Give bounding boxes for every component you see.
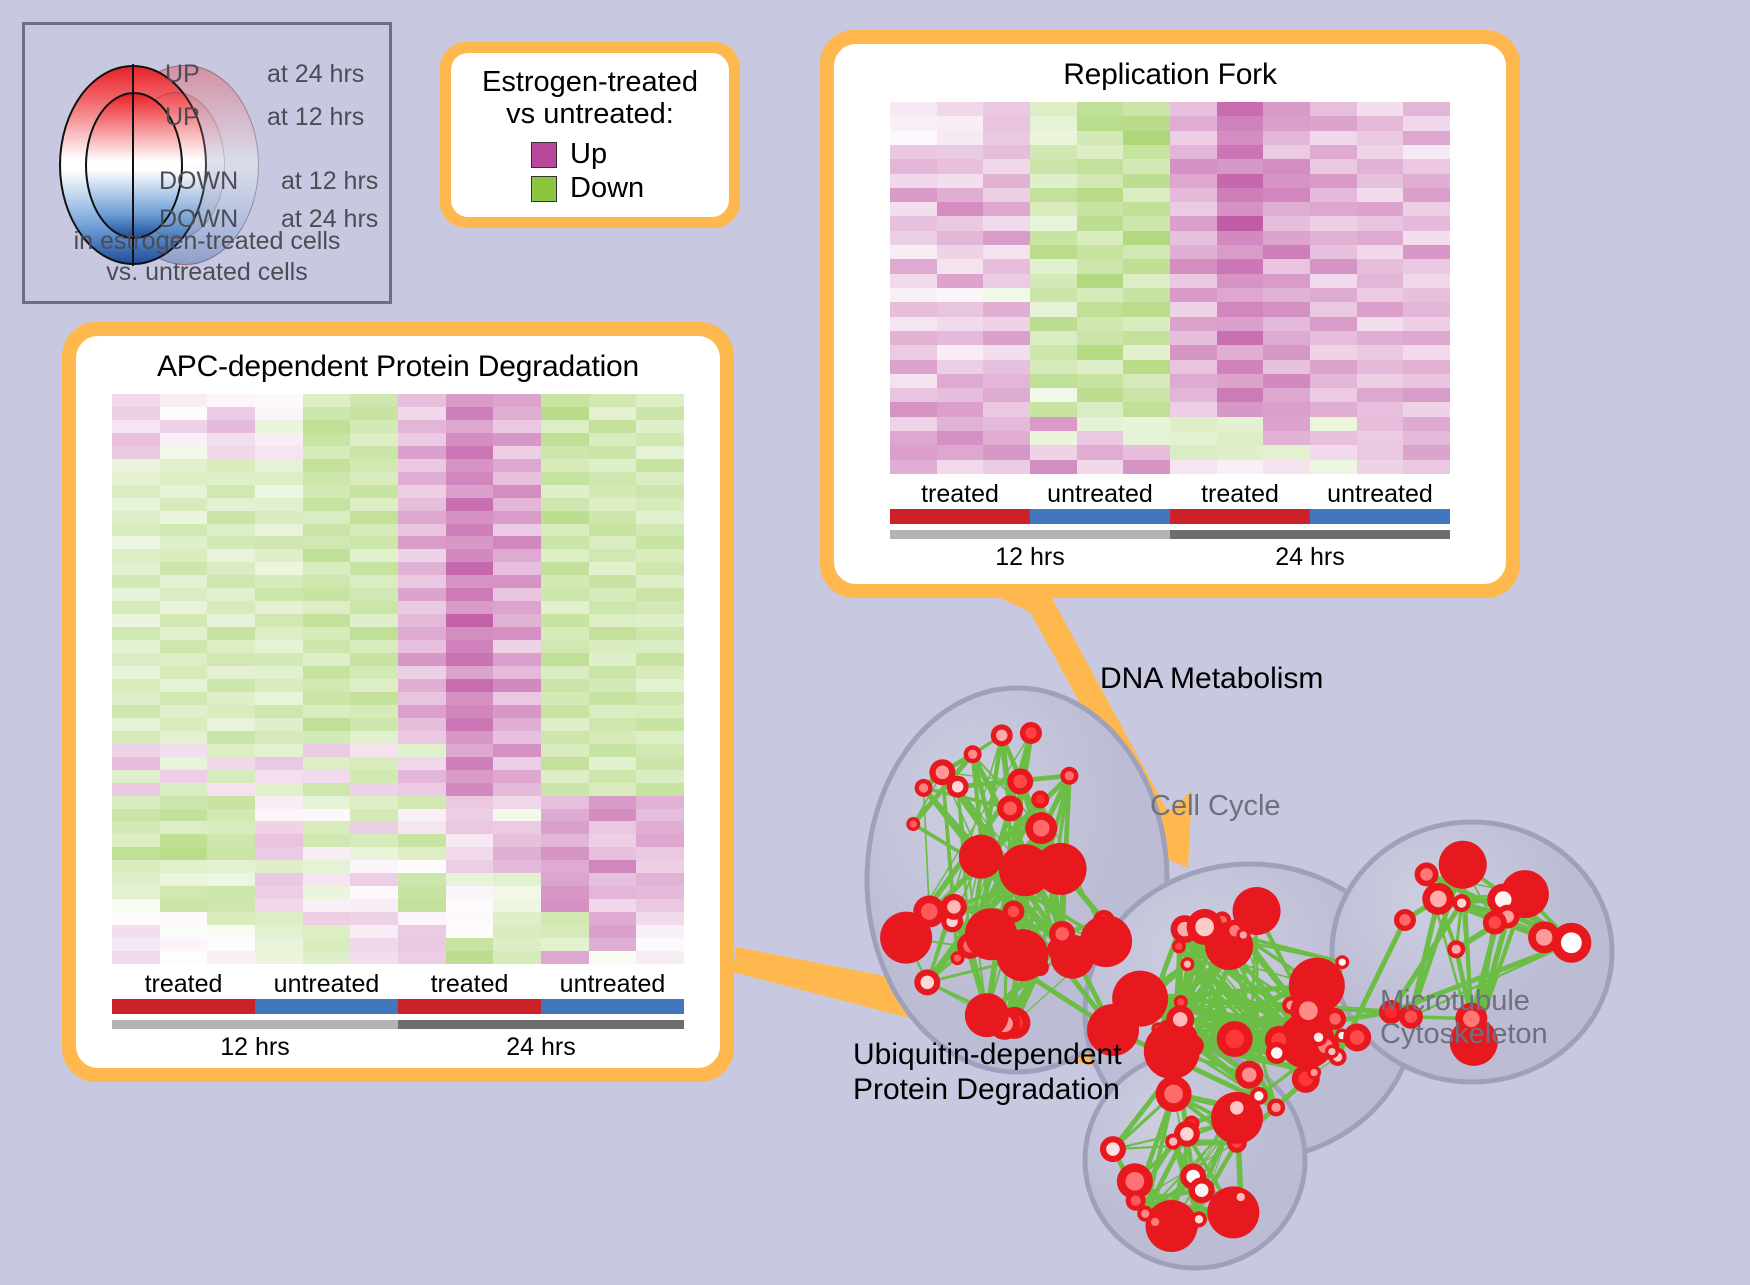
heatmap-cell xyxy=(255,834,303,847)
heatmap-cell xyxy=(1357,131,1404,145)
network-node[interactable] xyxy=(1049,921,1075,947)
heatmap-cell xyxy=(983,302,1030,316)
heatmap-cell xyxy=(350,731,398,744)
heatmap-cell xyxy=(1403,274,1450,288)
heatmap-cell xyxy=(636,679,684,692)
heatmap-cell xyxy=(541,770,589,783)
heatmap-cell xyxy=(589,433,637,446)
heatmap-cell xyxy=(589,925,637,938)
network-node[interactable] xyxy=(959,835,1003,879)
heatmap-cell xyxy=(112,640,160,653)
heatmap-cell xyxy=(589,498,637,511)
node-inner-fill xyxy=(1164,1085,1183,1104)
heatmap-cell xyxy=(303,524,351,537)
heatmap-cell xyxy=(350,536,398,549)
network-node[interactable] xyxy=(1290,993,1326,1029)
heatmap-cell xyxy=(303,459,351,472)
network-node[interactable] xyxy=(1007,768,1033,794)
network-node[interactable] xyxy=(1343,1023,1371,1051)
heatmap-cell xyxy=(983,288,1030,302)
node-inner-fill xyxy=(1237,1193,1245,1201)
heatmap-cell xyxy=(1077,145,1124,159)
heatmap-cell xyxy=(350,485,398,498)
heatmap-cell xyxy=(160,744,208,757)
node-inner-fill xyxy=(1195,1183,1209,1197)
heatmap-cell xyxy=(350,679,398,692)
heatmap-cell xyxy=(303,640,351,653)
network-node[interactable] xyxy=(906,817,920,831)
heatmap-cell xyxy=(890,188,937,202)
heatmap-cell xyxy=(1217,460,1264,474)
heatmap-cell xyxy=(160,757,208,770)
network-node[interactable] xyxy=(915,779,933,797)
network-node[interactable] xyxy=(1180,957,1194,971)
estrogen-legend-items: Up Down xyxy=(451,138,729,206)
heatmap-cell xyxy=(1030,417,1077,431)
heatmap-cell xyxy=(446,536,494,549)
network-node[interactable] xyxy=(1126,1191,1146,1211)
heatmap-cell xyxy=(446,511,494,524)
heatmap-cell xyxy=(398,705,446,718)
heatmap-cell xyxy=(493,562,541,575)
node-inner-fill xyxy=(1225,1030,1244,1049)
heatmap-cell xyxy=(589,809,637,822)
heatmap-cell xyxy=(207,536,255,549)
heatmap-cell xyxy=(937,188,984,202)
heatmap-cell xyxy=(589,666,637,679)
heatmap-cell xyxy=(255,705,303,718)
network-node[interactable] xyxy=(1060,767,1078,785)
heatmap-cell xyxy=(1263,174,1310,188)
network-node[interactable] xyxy=(1233,1189,1249,1205)
heatmap-cell xyxy=(937,174,984,188)
heatmap-cell xyxy=(541,912,589,925)
network-node[interactable] xyxy=(1025,812,1057,844)
heatmap-cell xyxy=(207,860,255,873)
heatmap-cell xyxy=(207,498,255,511)
network-node[interactable] xyxy=(1233,887,1281,935)
heatmap-cell xyxy=(255,783,303,796)
cluster-label-microtubule: Microtubule Cytoskeleton xyxy=(1380,985,1548,1052)
heatmap-cell xyxy=(446,757,494,770)
network-node[interactable] xyxy=(880,912,932,964)
heatmap-cell xyxy=(303,485,351,498)
ubiquitin-label-line1: Ubiquitin-dependent xyxy=(853,1038,1122,1073)
heatmap-cell xyxy=(207,653,255,666)
heatmap-cell xyxy=(160,899,208,912)
heatmap-cell xyxy=(1077,174,1124,188)
heatmap-cell xyxy=(1357,360,1404,374)
heatmap-cell xyxy=(493,951,541,964)
heatmap-cell xyxy=(398,847,446,860)
heatmap-cell xyxy=(1263,374,1310,388)
heatmap-cell xyxy=(160,498,208,511)
node-inner-fill xyxy=(1430,891,1447,908)
sample-group-label: treated xyxy=(398,970,541,999)
heatmap-cell xyxy=(303,847,351,860)
sample-group-label: untreated xyxy=(541,970,684,999)
heatmap-cell xyxy=(446,394,494,407)
heatmap-cell xyxy=(937,302,984,316)
node-inner-fill xyxy=(910,820,917,827)
network-node[interactable] xyxy=(964,745,982,763)
replication-fork-panel: Replication Fork treateduntreatedtreated… xyxy=(820,30,1520,598)
heatmap-cell xyxy=(255,821,303,834)
heatmap-cell xyxy=(589,860,637,873)
node-outer-ring xyxy=(996,929,1048,981)
heatmap-cell xyxy=(160,718,208,731)
heatmap-cell xyxy=(255,433,303,446)
heatmap-cell xyxy=(350,938,398,951)
heatmap-cell xyxy=(1030,317,1077,331)
heatmap-cell xyxy=(1310,388,1357,402)
heatmap-cell xyxy=(1170,231,1217,245)
heatmap-cell xyxy=(1123,402,1170,416)
network-node[interactable] xyxy=(1235,1061,1263,1089)
network-node[interactable] xyxy=(991,724,1013,746)
network-node[interactable] xyxy=(1035,843,1087,895)
network-node[interactable] xyxy=(1483,911,1507,935)
heatmap-cell xyxy=(160,459,208,472)
heatmap-cell xyxy=(350,433,398,446)
heatmap-cell xyxy=(636,420,684,433)
estrogen-legend-title: Estrogen-treated vs untreated: xyxy=(451,53,729,131)
heatmap-cell xyxy=(112,666,160,679)
heatmap-cell xyxy=(1310,302,1357,316)
heatmap-cell xyxy=(1263,188,1310,202)
network-node[interactable] xyxy=(1415,862,1439,886)
heatmap-cell xyxy=(255,459,303,472)
sample-group-label: untreated xyxy=(255,970,398,999)
heatmap-cell xyxy=(1403,216,1450,230)
heatmap-cell xyxy=(937,102,984,116)
heatmap-cell xyxy=(207,783,255,796)
heatmap-cell xyxy=(160,770,208,783)
heatmap-cell xyxy=(1403,360,1450,374)
heatmap-cell xyxy=(112,783,160,796)
heatmap-cell xyxy=(112,472,160,485)
heatmap-cell xyxy=(350,666,398,679)
apc-degradation-panel: APC-dependent Protein Degradation treate… xyxy=(62,322,734,1082)
heatmap-cell xyxy=(112,873,160,886)
heatmap-cell xyxy=(446,549,494,562)
heatmap-cell xyxy=(636,588,684,601)
heatmap-cell xyxy=(398,692,446,705)
heatmap-cell xyxy=(207,459,255,472)
heatmap-cell xyxy=(1030,159,1077,173)
heatmap-cell xyxy=(1310,102,1357,116)
network-node[interactable] xyxy=(1165,1134,1181,1150)
down-label: Down xyxy=(570,172,644,205)
network-node[interactable] xyxy=(996,929,1048,981)
heatmap-cell xyxy=(493,938,541,951)
heatmap-cell xyxy=(350,575,398,588)
network-node[interactable] xyxy=(1447,940,1465,958)
heatmap-cell xyxy=(1403,417,1450,431)
network-node[interactable] xyxy=(1187,909,1223,945)
heatmap-cell xyxy=(541,718,589,731)
apc-sample-labels: treateduntreatedtreateduntreated xyxy=(112,970,684,999)
network-node[interactable] xyxy=(1191,1211,1207,1227)
heatmap-cell xyxy=(1263,460,1310,474)
heatmap-cell xyxy=(303,549,351,562)
heatmap-cell xyxy=(398,407,446,420)
network-node[interactable] xyxy=(1147,1214,1163,1230)
network-node[interactable] xyxy=(1217,1021,1253,1057)
heatmap-cell xyxy=(350,796,398,809)
heatmap-cell xyxy=(890,460,937,474)
heatmap-cell xyxy=(636,731,684,744)
network-node[interactable] xyxy=(1156,1076,1192,1112)
network-node[interactable] xyxy=(965,993,1009,1037)
heatmap-cell xyxy=(303,498,351,511)
heatmap-cell xyxy=(112,925,160,938)
heatmap-cell xyxy=(446,614,494,627)
heatmap-cell xyxy=(207,834,255,847)
heatmap-cell xyxy=(636,938,684,951)
heatmap-cell xyxy=(1263,402,1310,416)
heatmap-cell xyxy=(541,407,589,420)
heatmap-cell xyxy=(636,653,684,666)
network-node[interactable] xyxy=(1325,1045,1339,1059)
heatmap-cell xyxy=(350,588,398,601)
heatmap-cell xyxy=(937,231,984,245)
time-group-label: 12 hrs xyxy=(112,1029,398,1062)
heatmap-cell xyxy=(493,524,541,537)
node-inner-fill xyxy=(1561,932,1582,953)
heatmap-cell xyxy=(112,899,160,912)
node-inner-fill xyxy=(1180,1127,1194,1141)
network-node[interactable] xyxy=(997,795,1023,821)
heatmap-cell xyxy=(350,524,398,537)
network-node[interactable] xyxy=(1528,921,1560,953)
network-node[interactable] xyxy=(914,969,940,995)
heatmap-cell xyxy=(890,317,937,331)
heatmap-cell xyxy=(937,116,984,130)
heatmap-cell xyxy=(589,744,637,757)
heatmap-cell xyxy=(112,692,160,705)
heatmap-cell xyxy=(398,809,446,822)
legend-caption: in estrogen-treated cells vs. untreated … xyxy=(25,226,389,287)
heatmap-cell xyxy=(1263,288,1310,302)
heatmap-cell xyxy=(350,886,398,899)
heatmap-cell xyxy=(1123,202,1170,216)
node-inner-fill xyxy=(1240,931,1247,938)
network-node[interactable] xyxy=(941,894,967,920)
heatmap-cell xyxy=(1077,188,1124,202)
network-node[interactable] xyxy=(1224,1095,1250,1121)
network-node[interactable] xyxy=(1002,901,1024,923)
node-outer-ring xyxy=(1035,843,1087,895)
heatmap-cell xyxy=(1123,288,1170,302)
heatmap-cell xyxy=(1263,331,1310,345)
heatmap-cell xyxy=(636,783,684,796)
heatmap-cell xyxy=(303,938,351,951)
heatmap-cell xyxy=(541,692,589,705)
heatmap-cell xyxy=(1403,302,1450,316)
heatmap-cell xyxy=(1403,188,1450,202)
network-node[interactable] xyxy=(1267,1098,1285,1116)
heatmap-cell xyxy=(541,796,589,809)
heatmap-cell xyxy=(937,460,984,474)
heatmap-cell xyxy=(160,407,208,420)
network-node[interactable] xyxy=(1031,790,1049,808)
heatmap-cell xyxy=(890,345,937,359)
network-node[interactable] xyxy=(1394,909,1416,931)
heatmap-cell xyxy=(112,446,160,459)
network-node[interactable] xyxy=(1166,1005,1194,1033)
heatmap-cell xyxy=(207,744,255,757)
heatmap-cell xyxy=(112,796,160,809)
heatmap-cell xyxy=(207,562,255,575)
heatmap-cell xyxy=(1310,131,1357,145)
heatmap-cell xyxy=(398,394,446,407)
heatmap-cell xyxy=(350,912,398,925)
heatmap-cell xyxy=(350,446,398,459)
heatmap-cell xyxy=(398,666,446,679)
replication-fork-heatmap xyxy=(890,102,1450,474)
heatmap-cell xyxy=(636,549,684,562)
heatmap-cell xyxy=(160,562,208,575)
heatmap-cell xyxy=(446,847,494,860)
heatmap-cell xyxy=(446,588,494,601)
network-node[interactable] xyxy=(1439,841,1487,889)
heatmap-cell xyxy=(1217,360,1264,374)
heatmap-cell xyxy=(398,653,446,666)
node-outer-ring xyxy=(1144,1023,1200,1079)
heatmap-cell xyxy=(1217,331,1264,345)
heatmap-cell xyxy=(303,666,351,679)
heatmap-cell xyxy=(1403,288,1450,302)
heatmap-cell xyxy=(446,860,494,873)
heatmap-cell xyxy=(112,562,160,575)
heatmap-cell xyxy=(541,640,589,653)
heatmap-cell xyxy=(493,653,541,666)
network-node[interactable] xyxy=(947,776,969,798)
heatmap-cell xyxy=(446,705,494,718)
heatmap-cell xyxy=(937,202,984,216)
heatmap-cell xyxy=(255,666,303,679)
heatmap-cell xyxy=(589,394,637,407)
heatmap-cell xyxy=(937,259,984,273)
heatmap-cell xyxy=(636,511,684,524)
heatmap-cell xyxy=(1263,360,1310,374)
heatmap-cell xyxy=(255,899,303,912)
node-inner-fill xyxy=(1328,1048,1335,1055)
replication-fork-sample-color-bars xyxy=(890,509,1450,524)
network-node[interactable] xyxy=(1310,1028,1328,1046)
heatmap-cell xyxy=(207,873,255,886)
heatmap-cell xyxy=(890,445,937,459)
time-group-color-bar xyxy=(112,1020,398,1029)
heatmap-cell xyxy=(1357,174,1404,188)
heatmap-cell xyxy=(446,912,494,925)
heatmap-cell xyxy=(636,459,684,472)
heatmap-cell xyxy=(446,653,494,666)
heatmap-cell xyxy=(1170,159,1217,173)
network-node[interactable] xyxy=(1307,1066,1321,1080)
heatmap-cell xyxy=(636,899,684,912)
heatmap-cell xyxy=(398,912,446,925)
network-node[interactable] xyxy=(1266,1042,1288,1064)
down-color-swatch xyxy=(531,176,557,202)
heatmap-cell xyxy=(398,640,446,653)
heatmap-cell xyxy=(350,860,398,873)
network-node[interactable] xyxy=(1020,722,1042,744)
network-node[interactable] xyxy=(1453,894,1471,912)
heatmap-cell xyxy=(1077,102,1124,116)
heatmap-cell xyxy=(1123,188,1170,202)
node-inner-fill xyxy=(1314,1033,1323,1042)
heatmap-cell xyxy=(983,145,1030,159)
heatmap-cell xyxy=(1123,102,1170,116)
heatmap-cell xyxy=(541,886,589,899)
heatmap-cell xyxy=(589,446,637,459)
heatmap-cell xyxy=(1357,231,1404,245)
node-inner-fill xyxy=(1420,868,1432,880)
heatmap-cell xyxy=(636,834,684,847)
heatmap-cell xyxy=(589,524,637,537)
network-node[interactable] xyxy=(1144,1023,1200,1079)
network-node[interactable] xyxy=(1100,1136,1126,1162)
heatmap-cell xyxy=(303,420,351,433)
network-node[interactable] xyxy=(1236,928,1250,942)
network-node[interactable] xyxy=(1422,883,1454,915)
heatmap-cell xyxy=(589,485,637,498)
heatmap-cell xyxy=(1217,116,1264,130)
heatmap-cell xyxy=(1403,331,1450,345)
heatmap-cell xyxy=(636,925,684,938)
heatmap-cell xyxy=(1310,174,1357,188)
heatmap-cell xyxy=(493,692,541,705)
heatmap-cell xyxy=(636,627,684,640)
heatmap-cell xyxy=(303,511,351,524)
heatmap-cell xyxy=(589,692,637,705)
heatmap-cell xyxy=(589,951,637,964)
heatmap-cell xyxy=(541,627,589,640)
network-node[interactable] xyxy=(1189,1177,1215,1203)
ubiquitin-label-line2: Protein Degradation xyxy=(853,1073,1122,1108)
network-node[interactable] xyxy=(1335,955,1349,969)
heatmap-cell xyxy=(1310,402,1357,416)
network-node[interactable] xyxy=(1324,1008,1346,1030)
heatmap-cell xyxy=(303,731,351,744)
heatmap-cell xyxy=(1217,431,1264,445)
heatmap-cell xyxy=(446,485,494,498)
heatmap-cell xyxy=(636,873,684,886)
heatmap-cell xyxy=(541,873,589,886)
heatmap-cell xyxy=(1123,345,1170,359)
heatmap-cell xyxy=(160,951,208,964)
heatmap-cell xyxy=(255,809,303,822)
heatmap-cell xyxy=(1357,417,1404,431)
heatmap-cell xyxy=(1077,402,1124,416)
heatmap-cell xyxy=(1030,145,1077,159)
heatmap-cell xyxy=(350,744,398,757)
legend-time-up-24: at 24 hrs xyxy=(267,60,364,89)
node-inner-fill xyxy=(1065,771,1074,780)
heatmap-cell xyxy=(493,757,541,770)
sample-group-label: untreated xyxy=(1030,480,1170,509)
node-inner-fill xyxy=(1242,1067,1257,1082)
heatmap-cell xyxy=(983,116,1030,130)
heatmap-cell xyxy=(1403,374,1450,388)
heatmap-cell xyxy=(937,331,984,345)
node-outer-ring xyxy=(1233,887,1281,935)
heatmap-cell xyxy=(541,744,589,757)
heatmap-cell xyxy=(350,459,398,472)
heatmap-cell xyxy=(1170,374,1217,388)
